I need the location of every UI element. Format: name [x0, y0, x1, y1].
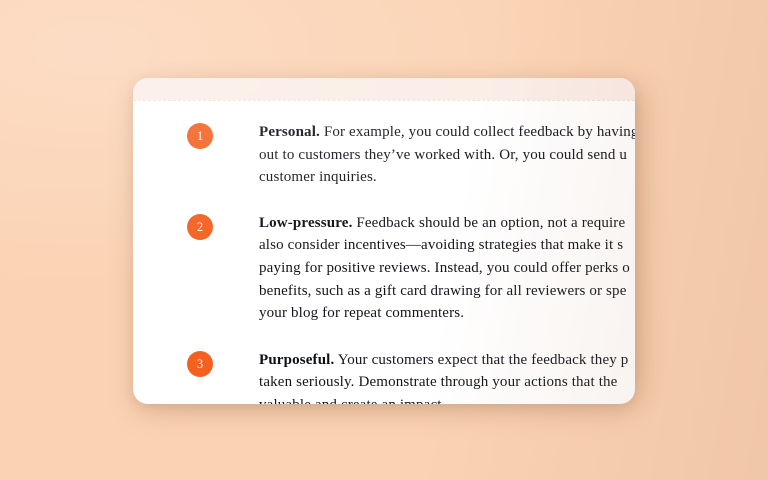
list-item-line: valuable and create an impact. [259, 394, 635, 404]
list-item-number-badge: 2 [187, 214, 213, 240]
list-item-line-text: Your customers expect that the feedback … [334, 352, 628, 368]
list-item-text: Purposeful. Your customers expect that t… [259, 349, 635, 404]
list-item-line-text: For example, you could collect feedback … [320, 124, 635, 140]
list-item-number-badge: 3 [187, 351, 213, 377]
list-item-lead: Personal. [259, 124, 320, 140]
list-item-text: Personal. For example, you could collect… [259, 121, 635, 189]
list-item-number-badge: 1 [187, 123, 213, 149]
list-item: 3 Purposeful. Your customers expect that… [133, 349, 635, 404]
screen: 1 Personal. For example, you could colle… [0, 0, 768, 480]
list-item: 1 Personal. For example, you could colle… [133, 121, 635, 189]
list-item-line: benefits, such as a gift card drawing fo… [259, 280, 635, 303]
list-item-line: Personal. For example, you could collect… [259, 121, 635, 144]
content-card: 1 Personal. For example, you could colle… [133, 78, 635, 404]
list-item-lead: Purposeful. [259, 352, 334, 368]
list-item-line: customer inquiries. [259, 166, 635, 189]
list-item-line-text: Feedback should be an option, not a requ… [352, 215, 625, 231]
list-item-line: also consider incentives—avoiding strate… [259, 234, 635, 257]
header-dashed-divider [133, 100, 635, 101]
list-item-line: Purposeful. Your customers expect that t… [259, 349, 635, 372]
list-item-line: taken seriously. Demonstrate through you… [259, 371, 635, 394]
list-item: 2 Low-pressure. Feedback should be an op… [133, 212, 635, 325]
card-header-strip [133, 78, 635, 100]
card-body: 1 Personal. For example, you could colle… [133, 121, 635, 404]
list-item-line: paying for positive reviews. Instead, yo… [259, 257, 635, 280]
list-item-line: your blog for repeat commenters. [259, 302, 635, 325]
list-item-line: Low-pressure. Feedback should be an opti… [259, 212, 635, 235]
list-item-line: out to customers they’ve worked with. Or… [259, 144, 635, 167]
list-item-lead: Low-pressure. [259, 215, 352, 231]
list-item-text: Low-pressure. Feedback should be an opti… [259, 212, 635, 325]
